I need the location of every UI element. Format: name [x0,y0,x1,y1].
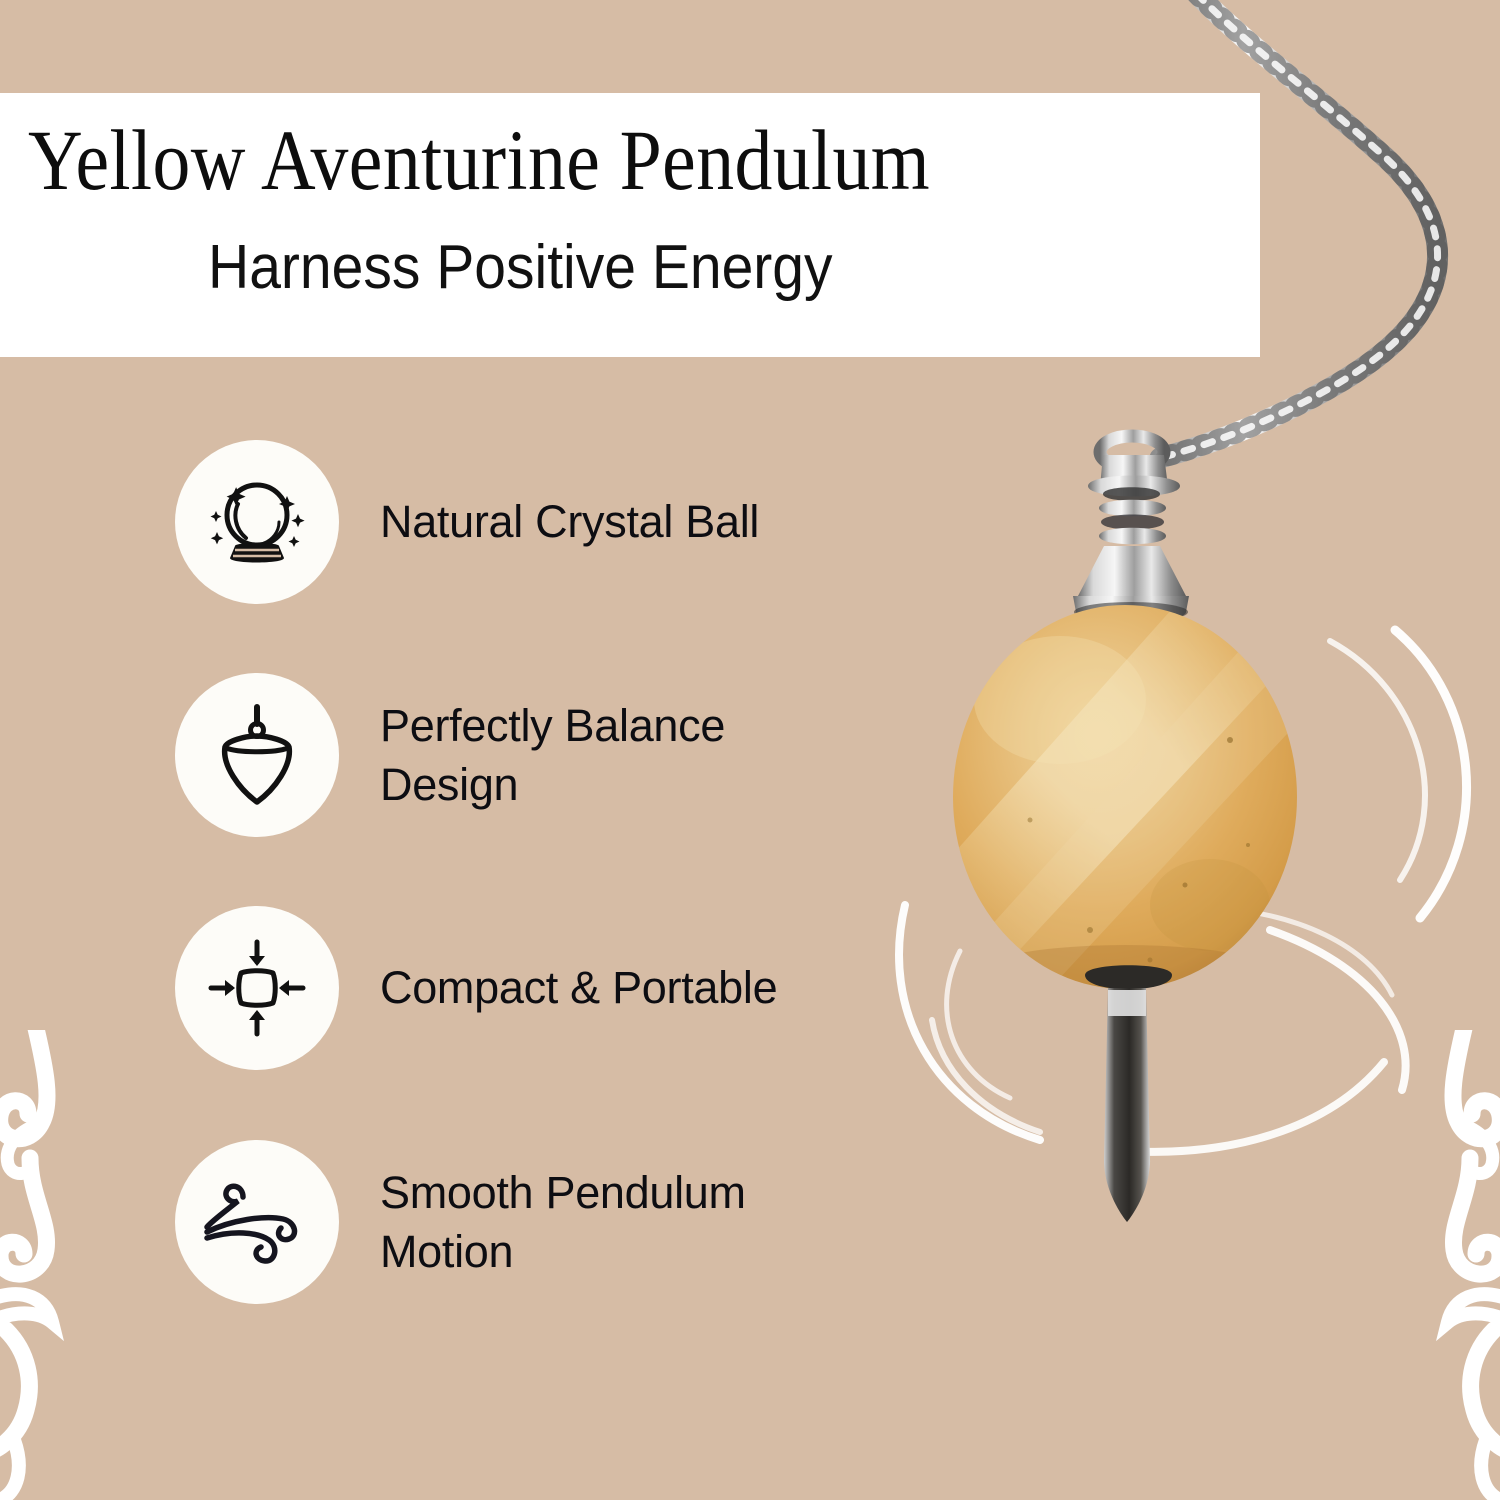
ornamental-swirl-right [1376,1030,1500,1500]
yellow-aventurine-sphere [930,600,1300,1025]
pendulum-tip [1085,965,1172,1222]
feature-label: Compact & Portable [380,958,777,1017]
wind-motion-icon [203,1170,311,1274]
feature-icon-wrapper [175,673,339,837]
page-subtitle: Harness Positive Energy [208,235,833,300]
feature-label: Natural Crystal Ball [380,492,759,551]
page-title: Yellow Aventurine Pendulum [28,117,930,205]
feature-item-compact-portable: Compact & Portable [175,906,935,1070]
flourish-left-svg [0,1030,124,1500]
feature-icon-wrapper [175,906,339,1070]
feature-icon-wrapper [175,1140,339,1304]
feature-label: Smooth Pendulum Motion [380,1163,850,1282]
ornamental-swirl-left [0,1030,124,1500]
title-banner: Yellow Aventurine Pendulum Harness Posit… [0,93,1260,357]
silver-cap [1073,436,1189,622]
product-infographic-poster: Yellow Aventurine Pendulum Harness Posit… [0,0,1500,1500]
feature-icon-wrapper [175,440,339,604]
flourish-right-svg [1376,1030,1500,1500]
feature-item-smooth-pendulum-motion: Smooth Pendulum Motion [175,1140,935,1304]
feature-item-natural-crystal-ball: Natural Crystal Ball [175,440,935,604]
crystal-ball-icon [205,470,309,574]
feature-label: Perfectly Balance Design [380,696,850,815]
pendulum-icon [205,703,309,807]
feature-item-perfectly-balance-design: Perfectly Balance Design [175,673,935,837]
compress-arrows-icon [205,936,309,1040]
